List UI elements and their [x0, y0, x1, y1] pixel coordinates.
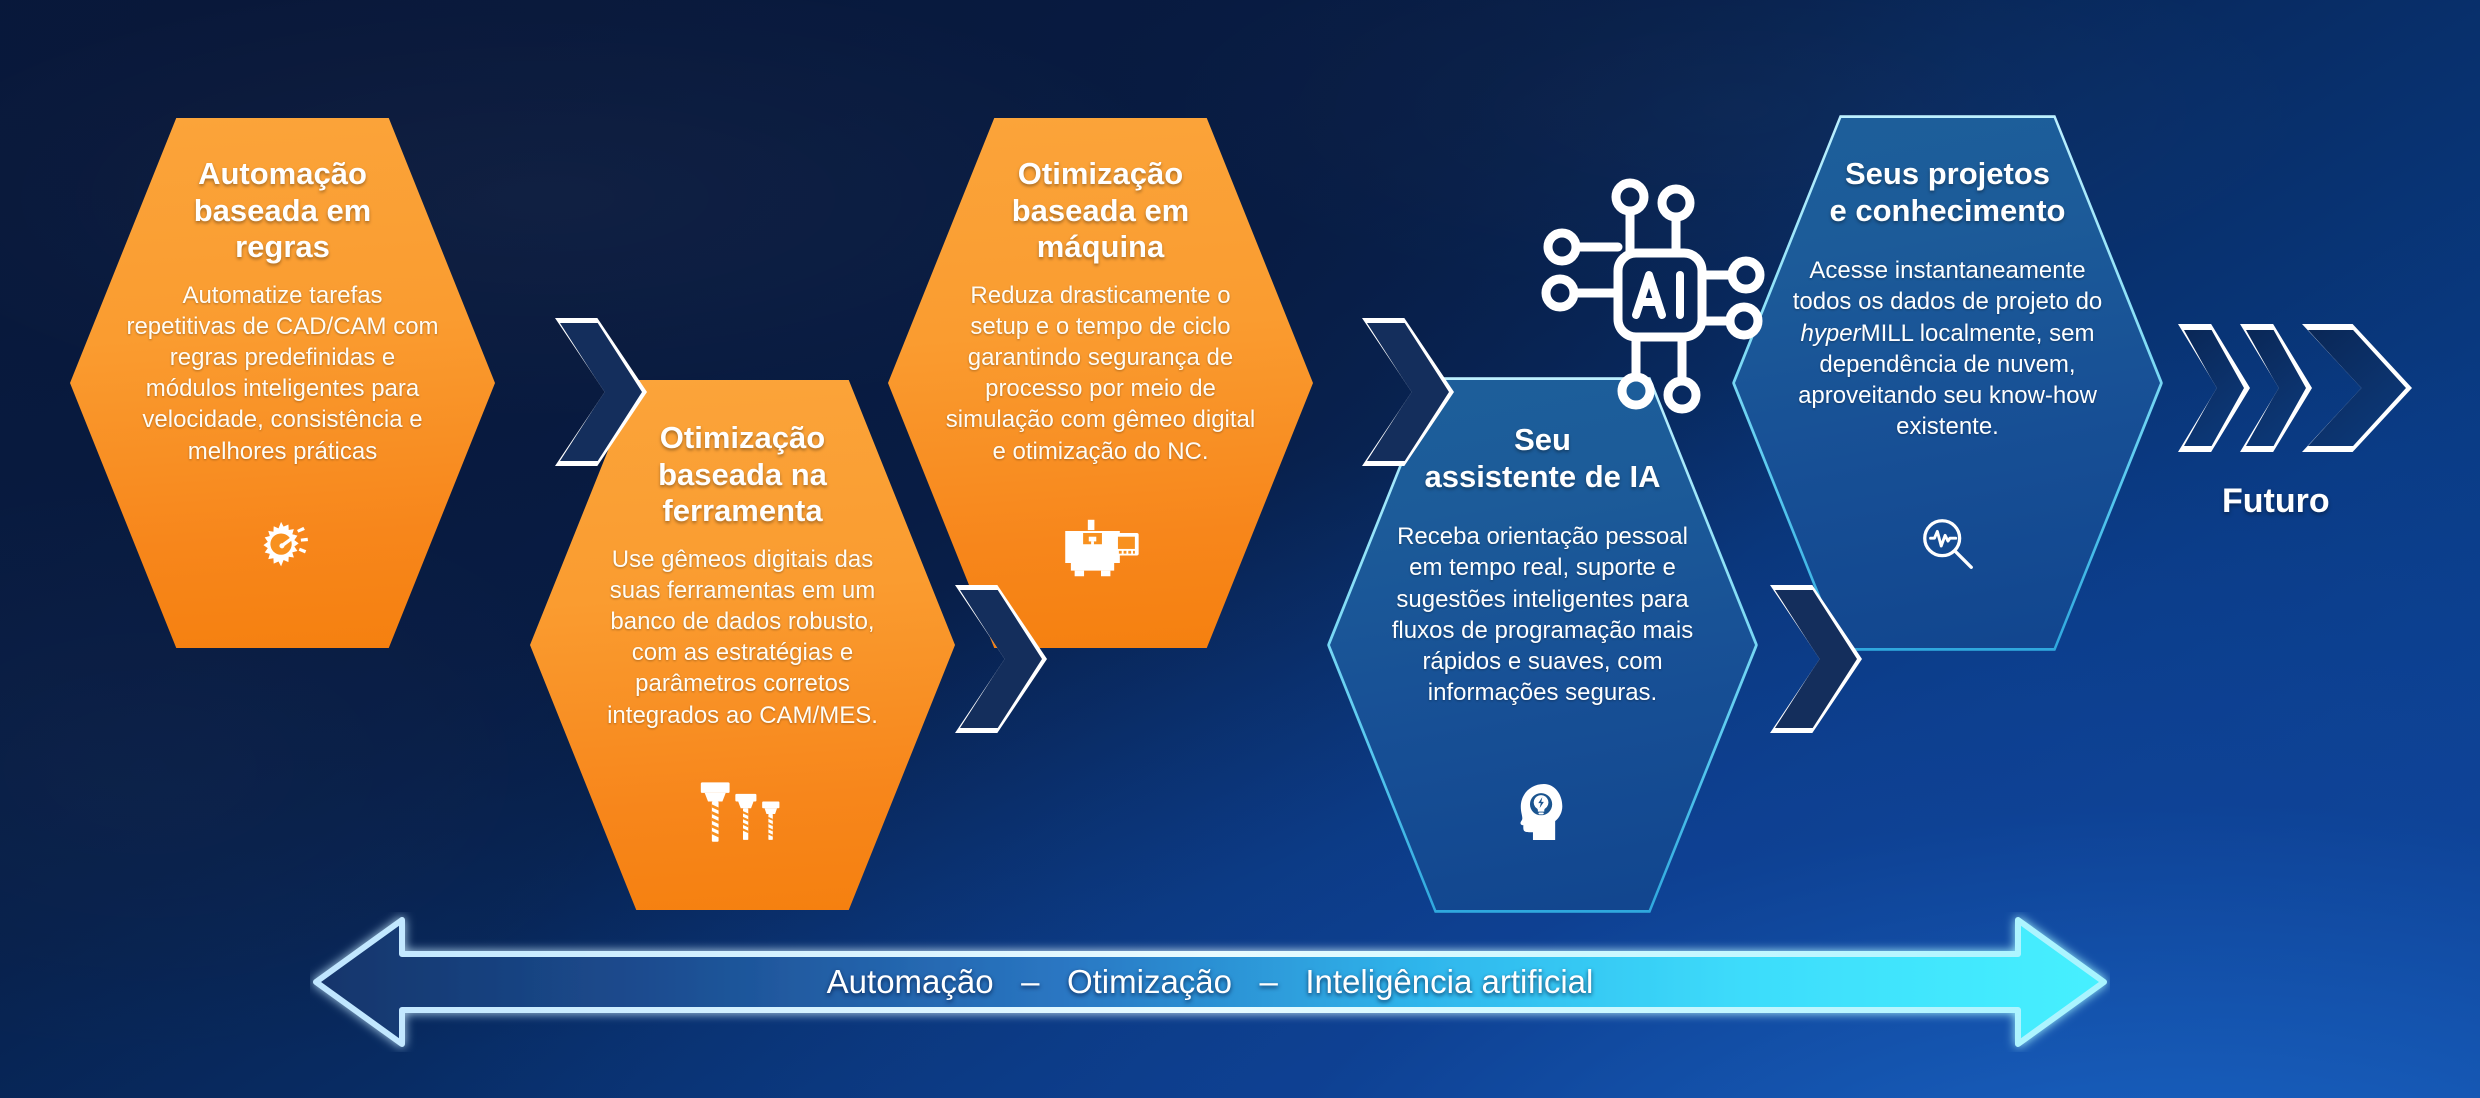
hexagon-description: Receba orientação pessoal em tempo real,…: [1386, 521, 1699, 708]
hexagon-description: Use gêmeos digitais das suas ferramentas…: [588, 544, 897, 731]
hexagon-title: Seus projetos e conhecimento: [1830, 156, 2066, 229]
hexagon-title: Otimização baseada na ferramenta: [658, 420, 827, 530]
future-chevron-1: [2178, 324, 2250, 452]
hexagon-title: Seu assistente de IA: [1424, 422, 1660, 495]
desc-part-1: Acesse instantaneamente todos os dados d…: [1793, 257, 2103, 315]
gear-speedometer-icon: [252, 516, 314, 578]
future-chevron-2: [2240, 324, 2312, 452]
infographic-canvas: Automação baseada em regras Automatize t…: [0, 0, 2480, 1098]
ai-chip-icon: [1540, 175, 1770, 415]
hexagon-machine-based-optimization[interactable]: Otimização baseada em máquina Reduza dra…: [888, 118, 1313, 648]
head-lightbulb-icon: [1515, 782, 1571, 840]
future-label: Futuro: [2222, 482, 2330, 521]
hexagon-title: Otimização baseada em máquina: [1012, 156, 1190, 266]
hexagon-description: Automatize tarefas repetitivas de CAD/CA…: [126, 280, 439, 467]
cnc-machine-icon: [1061, 516, 1141, 580]
desc-part-hyper-italic: hyper: [1801, 320, 1861, 347]
bottom-arrow-label: Automação – Otimização – Inteligência ar…: [310, 912, 2110, 1052]
hexagon-description: Reduza drasticamente o setup e o tempo d…: [938, 280, 1263, 467]
hexagon-rule-based-automation[interactable]: Automação baseada em regras Automatize t…: [70, 118, 495, 648]
hexagon-title: Automação baseada em regras: [194, 156, 372, 266]
drill-bits-icon: [697, 780, 789, 846]
future-chevron-3: [2302, 324, 2412, 452]
magnifier-pulse-icon: [1917, 514, 1979, 576]
hexagon-description-rich: Acesse instantaneamente todos os dados d…: [1785, 255, 2110, 442]
